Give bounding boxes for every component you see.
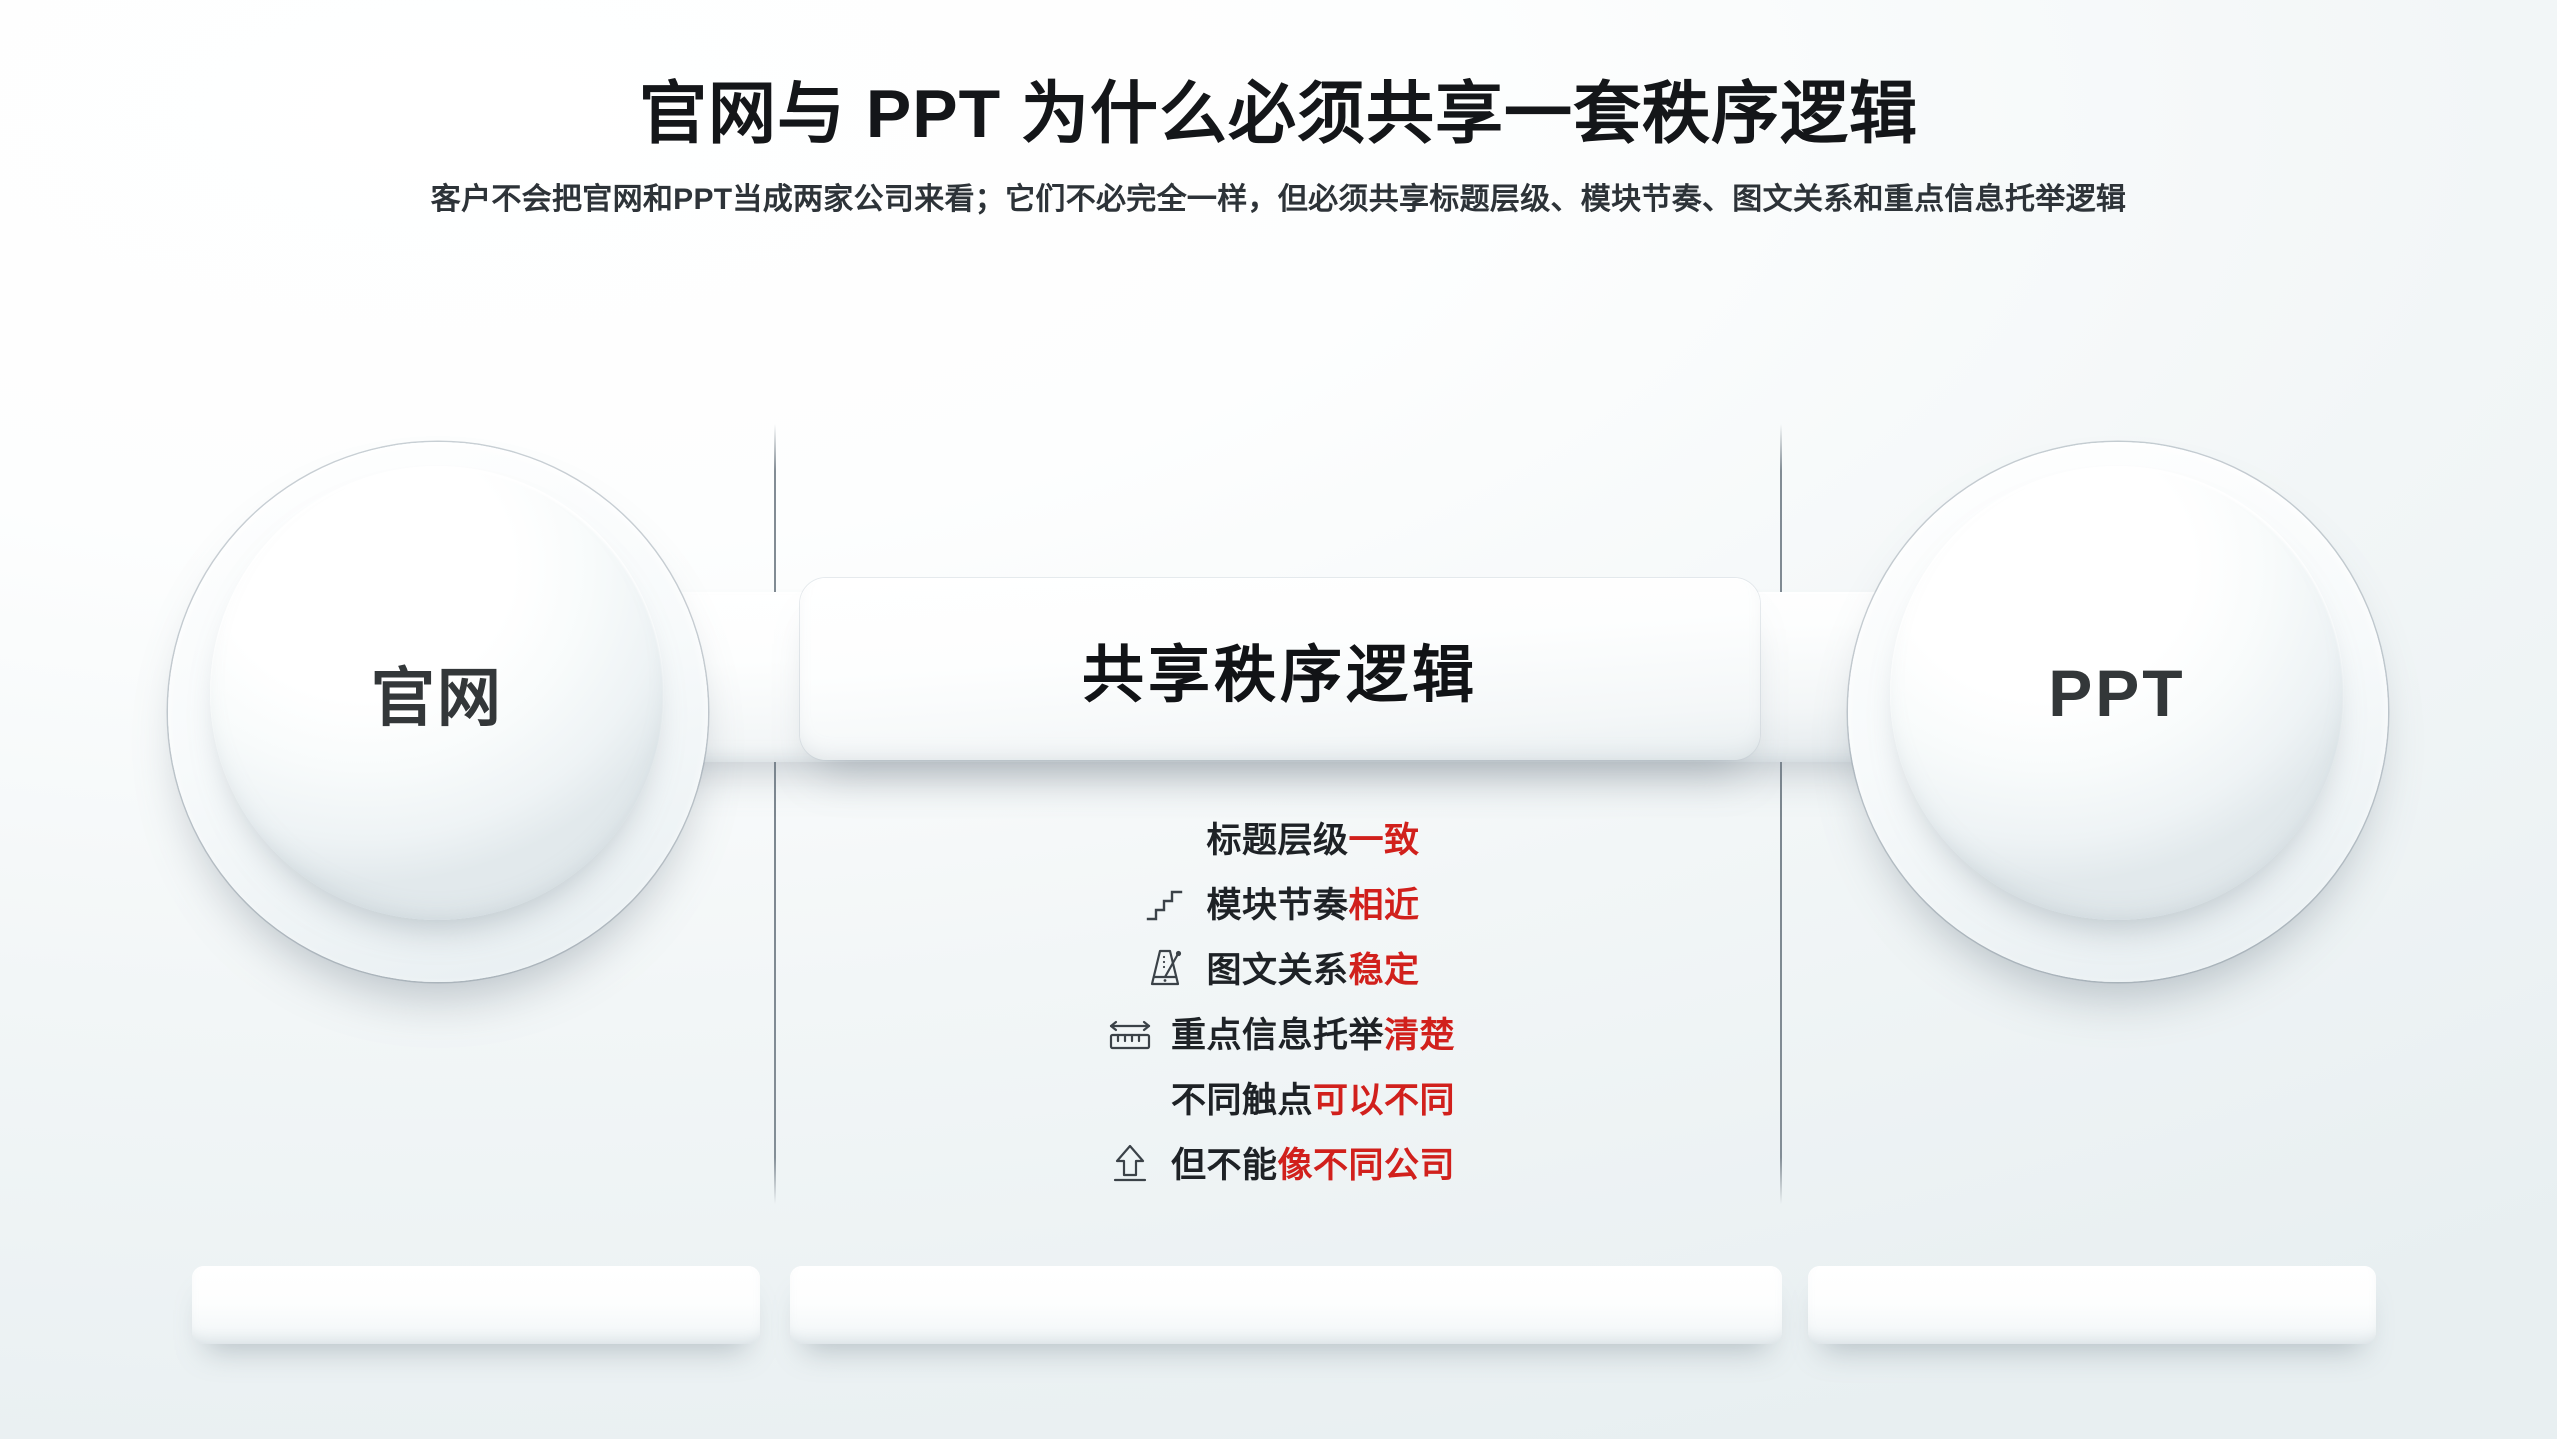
divider-line-left — [774, 424, 776, 1204]
bottom-plate-right — [1808, 1266, 2376, 1344]
list-item-label: 不同触点可以不同 — [1171, 1072, 1455, 1123]
arrow-up-icon — [1105, 1140, 1155, 1186]
bottom-plate-left — [192, 1266, 760, 1344]
list-item-label: 模块节奏相近 — [1206, 877, 1419, 928]
node-ppt-label: PPT — [2048, 655, 2185, 731]
ruler-icon — [1105, 1010, 1155, 1056]
center-card-label: 共享秩序逻辑 — [1082, 624, 1478, 714]
list-item-label: 但不能像不同公司 — [1171, 1137, 1455, 1188]
node-ppt[interactable]: PPT — [1848, 442, 2388, 982]
list-item-label: 重点信息托举清楚 — [1171, 1007, 1455, 1058]
divider-line-right — [1780, 424, 1782, 1204]
diagram-stage: 官网 PPT 共享秩序逻辑 标题层级一致 模块节奏相近 — [0, 0, 2557, 1439]
list-item: 模块节奏相近 — [930, 870, 1630, 935]
bottom-plate-center — [790, 1266, 1782, 1344]
node-disc: PPT — [1890, 466, 2344, 920]
bullet-list: 标题层级一致 模块节奏相近 — [930, 805, 1630, 1195]
list-item: 图文关系稳定 — [930, 935, 1630, 1000]
list-item: 但不能像不同公司 — [930, 1130, 1630, 1195]
metronome-icon — [1140, 945, 1190, 991]
node-disc: 官网 — [210, 466, 664, 920]
center-card[interactable]: 共享秩序逻辑 — [800, 578, 1760, 760]
list-item-label: 标题层级一致 — [1206, 812, 1419, 863]
node-website-label: 官网 — [371, 647, 503, 739]
node-website[interactable]: 官网 — [168, 442, 708, 982]
stairs-icon — [1140, 880, 1190, 926]
list-item: 标题层级一致 — [930, 805, 1630, 870]
list-item: 重点信息托举清楚 — [930, 1000, 1630, 1065]
list-item-label: 图文关系稳定 — [1206, 942, 1419, 993]
list-item: 不同触点可以不同 — [930, 1065, 1630, 1130]
